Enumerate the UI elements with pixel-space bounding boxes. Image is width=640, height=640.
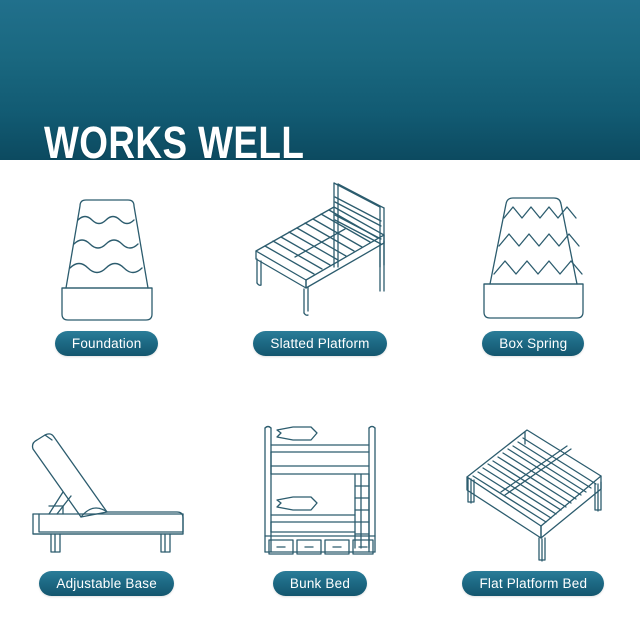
page-title-line-1: WORKS WELL bbox=[44, 120, 415, 160]
page-title: WORKS WELL WITH THESE BASES bbox=[44, 28, 415, 160]
base-label-adjustable-base: Adjustable Base bbox=[39, 571, 174, 596]
base-card-box-spring[interactable]: Box Spring bbox=[427, 160, 640, 400]
adjustable-base-icon bbox=[0, 406, 213, 571]
base-label-foundation: Foundation bbox=[55, 331, 159, 356]
bunk-bed-icon bbox=[213, 406, 426, 571]
flat-platform-bed-icon bbox=[427, 406, 640, 571]
bases-grid: Foundation bbox=[0, 160, 640, 640]
base-label-box-spring: Box Spring bbox=[482, 331, 584, 356]
base-label-slatted-platform: Slatted Platform bbox=[253, 331, 386, 356]
slatted-platform-bed-icon bbox=[213, 166, 426, 331]
header-banner: WORKS WELL WITH THESE BASES bbox=[0, 0, 640, 160]
base-card-slatted-platform[interactable]: Slatted Platform bbox=[213, 160, 426, 400]
box-spring-icon bbox=[427, 166, 640, 331]
works-well-with-these-bases-infographic: WORKS WELL WITH THESE BASES Foundation bbox=[0, 0, 640, 640]
base-card-bunk-bed[interactable]: Bunk Bed bbox=[213, 400, 426, 640]
base-label-flat-platform-bed: Flat Platform Bed bbox=[462, 571, 604, 596]
base-card-adjustable-base[interactable]: Adjustable Base bbox=[0, 400, 213, 640]
base-card-foundation[interactable]: Foundation bbox=[0, 160, 213, 400]
base-card-flat-platform-bed[interactable]: Flat Platform Bed bbox=[427, 400, 640, 640]
foundation-mattress-icon bbox=[0, 166, 213, 331]
base-label-bunk-bed: Bunk Bed bbox=[273, 571, 367, 596]
